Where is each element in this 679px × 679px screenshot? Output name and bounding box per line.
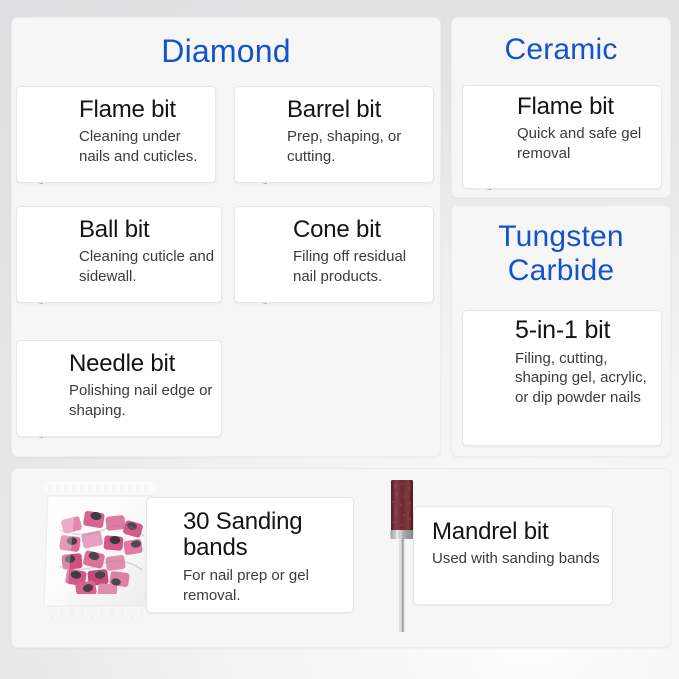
card-title: Cone bit: [293, 217, 431, 243]
card-ceramic-flame-bit-text: Flame bit Quick and safe gel removal: [517, 94, 659, 164]
card-cone-bit[interactable]: Cone bit Filing off residual nail produc…: [234, 206, 434, 303]
section-title-diamond: Diamond: [12, 18, 440, 70]
card-description: Quick and safe gel removal: [517, 124, 659, 164]
card-sanding-bands-text: 30 Sanding bands For nail prep or gel re…: [183, 509, 351, 605]
card-title: 30 Sanding bands: [183, 509, 351, 562]
card-5in1-bit[interactable]: 5-in-1 bit Filing, cutting, shaping gel,…: [462, 310, 662, 446]
card-title: Ball bit: [79, 217, 219, 243]
card-title: Flame bit: [517, 94, 659, 120]
card-5in1-bit-text: 5-in-1 bit Filing, cutting, shaping gel,…: [515, 317, 661, 408]
section-title-tungsten-carbide: Tungsten Carbide: [452, 206, 670, 287]
card-title: Mandrel bit: [432, 519, 610, 545]
card-flame-bit-text: Flame bit Cleaning under nails and cutic…: [79, 97, 211, 167]
card-flame-bit[interactable]: Flame bit Cleaning under nails and cutic…: [16, 86, 216, 183]
card-title: 5-in-1 bit: [515, 317, 661, 345]
card-mandrel-bit-text: Mandrel bit Used with sanding bands: [432, 519, 610, 569]
card-barrel-bit-text: Barrel bit Prep, shaping, or cutting.: [287, 97, 429, 167]
card-description: For nail prep or gel removal.: [183, 566, 351, 606]
card-barrel-bit[interactable]: Barrel bit Prep, shaping, or cutting.: [234, 86, 434, 183]
card-title: Flame bit: [79, 97, 211, 123]
card-sanding-bands[interactable]: 30 Sanding bands For nail prep or gel re…: [146, 497, 354, 613]
card-title: Needle bit: [69, 351, 221, 377]
card-ball-bit-text: Ball bit Cleaning cuticle and sidewall.: [79, 217, 219, 287]
card-description: Prep, shaping, or cutting.: [287, 127, 429, 167]
card-mandrel-bit[interactable]: Mandrel bit Used with sanding bands: [413, 506, 613, 605]
card-title: Barrel bit: [287, 97, 429, 123]
card-description: Cleaning cuticle and sidewall.: [79, 247, 219, 287]
card-description: Polishing nail edge or shaping.: [69, 381, 221, 421]
card-description: Used with sanding bands: [432, 549, 610, 569]
section-title-ceramic: Ceramic: [452, 18, 670, 67]
card-needle-bit[interactable]: Needle bit Polishing nail edge or shapin…: [16, 340, 222, 437]
card-description: Cleaning under nails and cuticles.: [79, 127, 211, 167]
card-description: Filing, cutting, shaping gel, acrylic, o…: [515, 349, 661, 408]
card-ball-bit[interactable]: Ball bit Cleaning cuticle and sidewall.: [16, 206, 222, 303]
card-description: Filing off residual nail products.: [293, 247, 431, 287]
product-feature-board: Diamond: [0, 0, 679, 679]
card-ceramic-flame-bit[interactable]: Flame bit Quick and safe gel removal: [462, 85, 662, 189]
card-needle-bit-text: Needle bit Polishing nail edge or shapin…: [69, 351, 221, 421]
card-cone-bit-text: Cone bit Filing off residual nail produc…: [293, 217, 431, 287]
